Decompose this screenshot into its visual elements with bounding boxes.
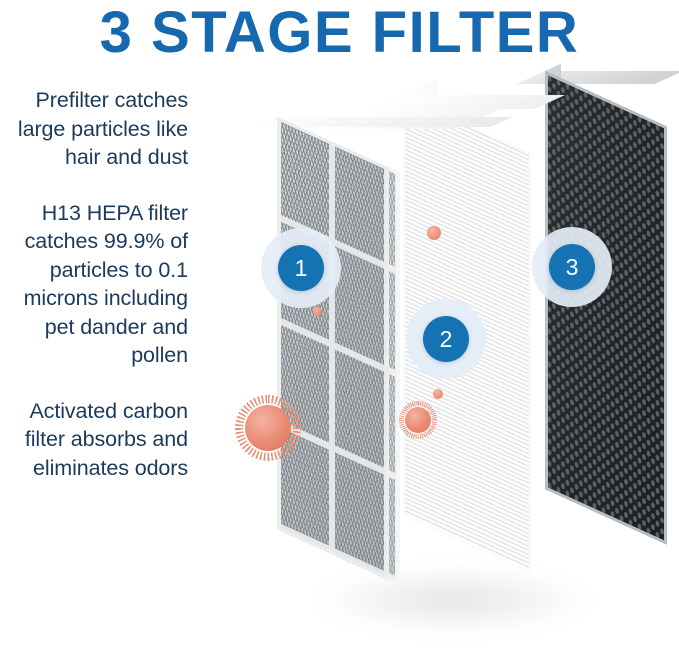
carbon-filter-top-face [516,71,679,84]
stage-3-description: Activated carbon filter absorbs and elim… [0,397,188,483]
stage-3-badge-number: 3 [549,244,595,290]
prefilter-front-face-right [277,117,389,580]
stage-1-badge-number: 1 [278,245,324,291]
stage-2-badge: 2 [423,316,469,362]
virus-medium-icon [405,407,431,433]
particle-small-3-icon [433,389,443,399]
virus-large-icon [245,405,291,451]
stage-1-badge: 1 [278,245,324,291]
stage-1-description: Prefilter catches large particles like h… [0,86,188,172]
particle-small-2-icon [313,307,322,316]
virus-core [405,407,431,433]
virus-core [245,405,291,451]
infographic-canvas: 3 STAGE FILTER Prefilter catches large p… [0,0,679,666]
stage-3-badge: 3 [549,244,595,290]
carbon-filter-front-face [545,71,667,545]
filter-illustration: 1 2 3 [215,95,679,640]
page-title: 3 STAGE FILTER [0,0,679,72]
particle-small-1-icon [427,226,441,240]
description-column: Prefilter catches large particles like h… [0,86,188,482]
stage-2-badge-number: 2 [423,316,469,362]
stage-2-description: H13 HEPA filter catches 99.9% of particl… [0,199,188,370]
